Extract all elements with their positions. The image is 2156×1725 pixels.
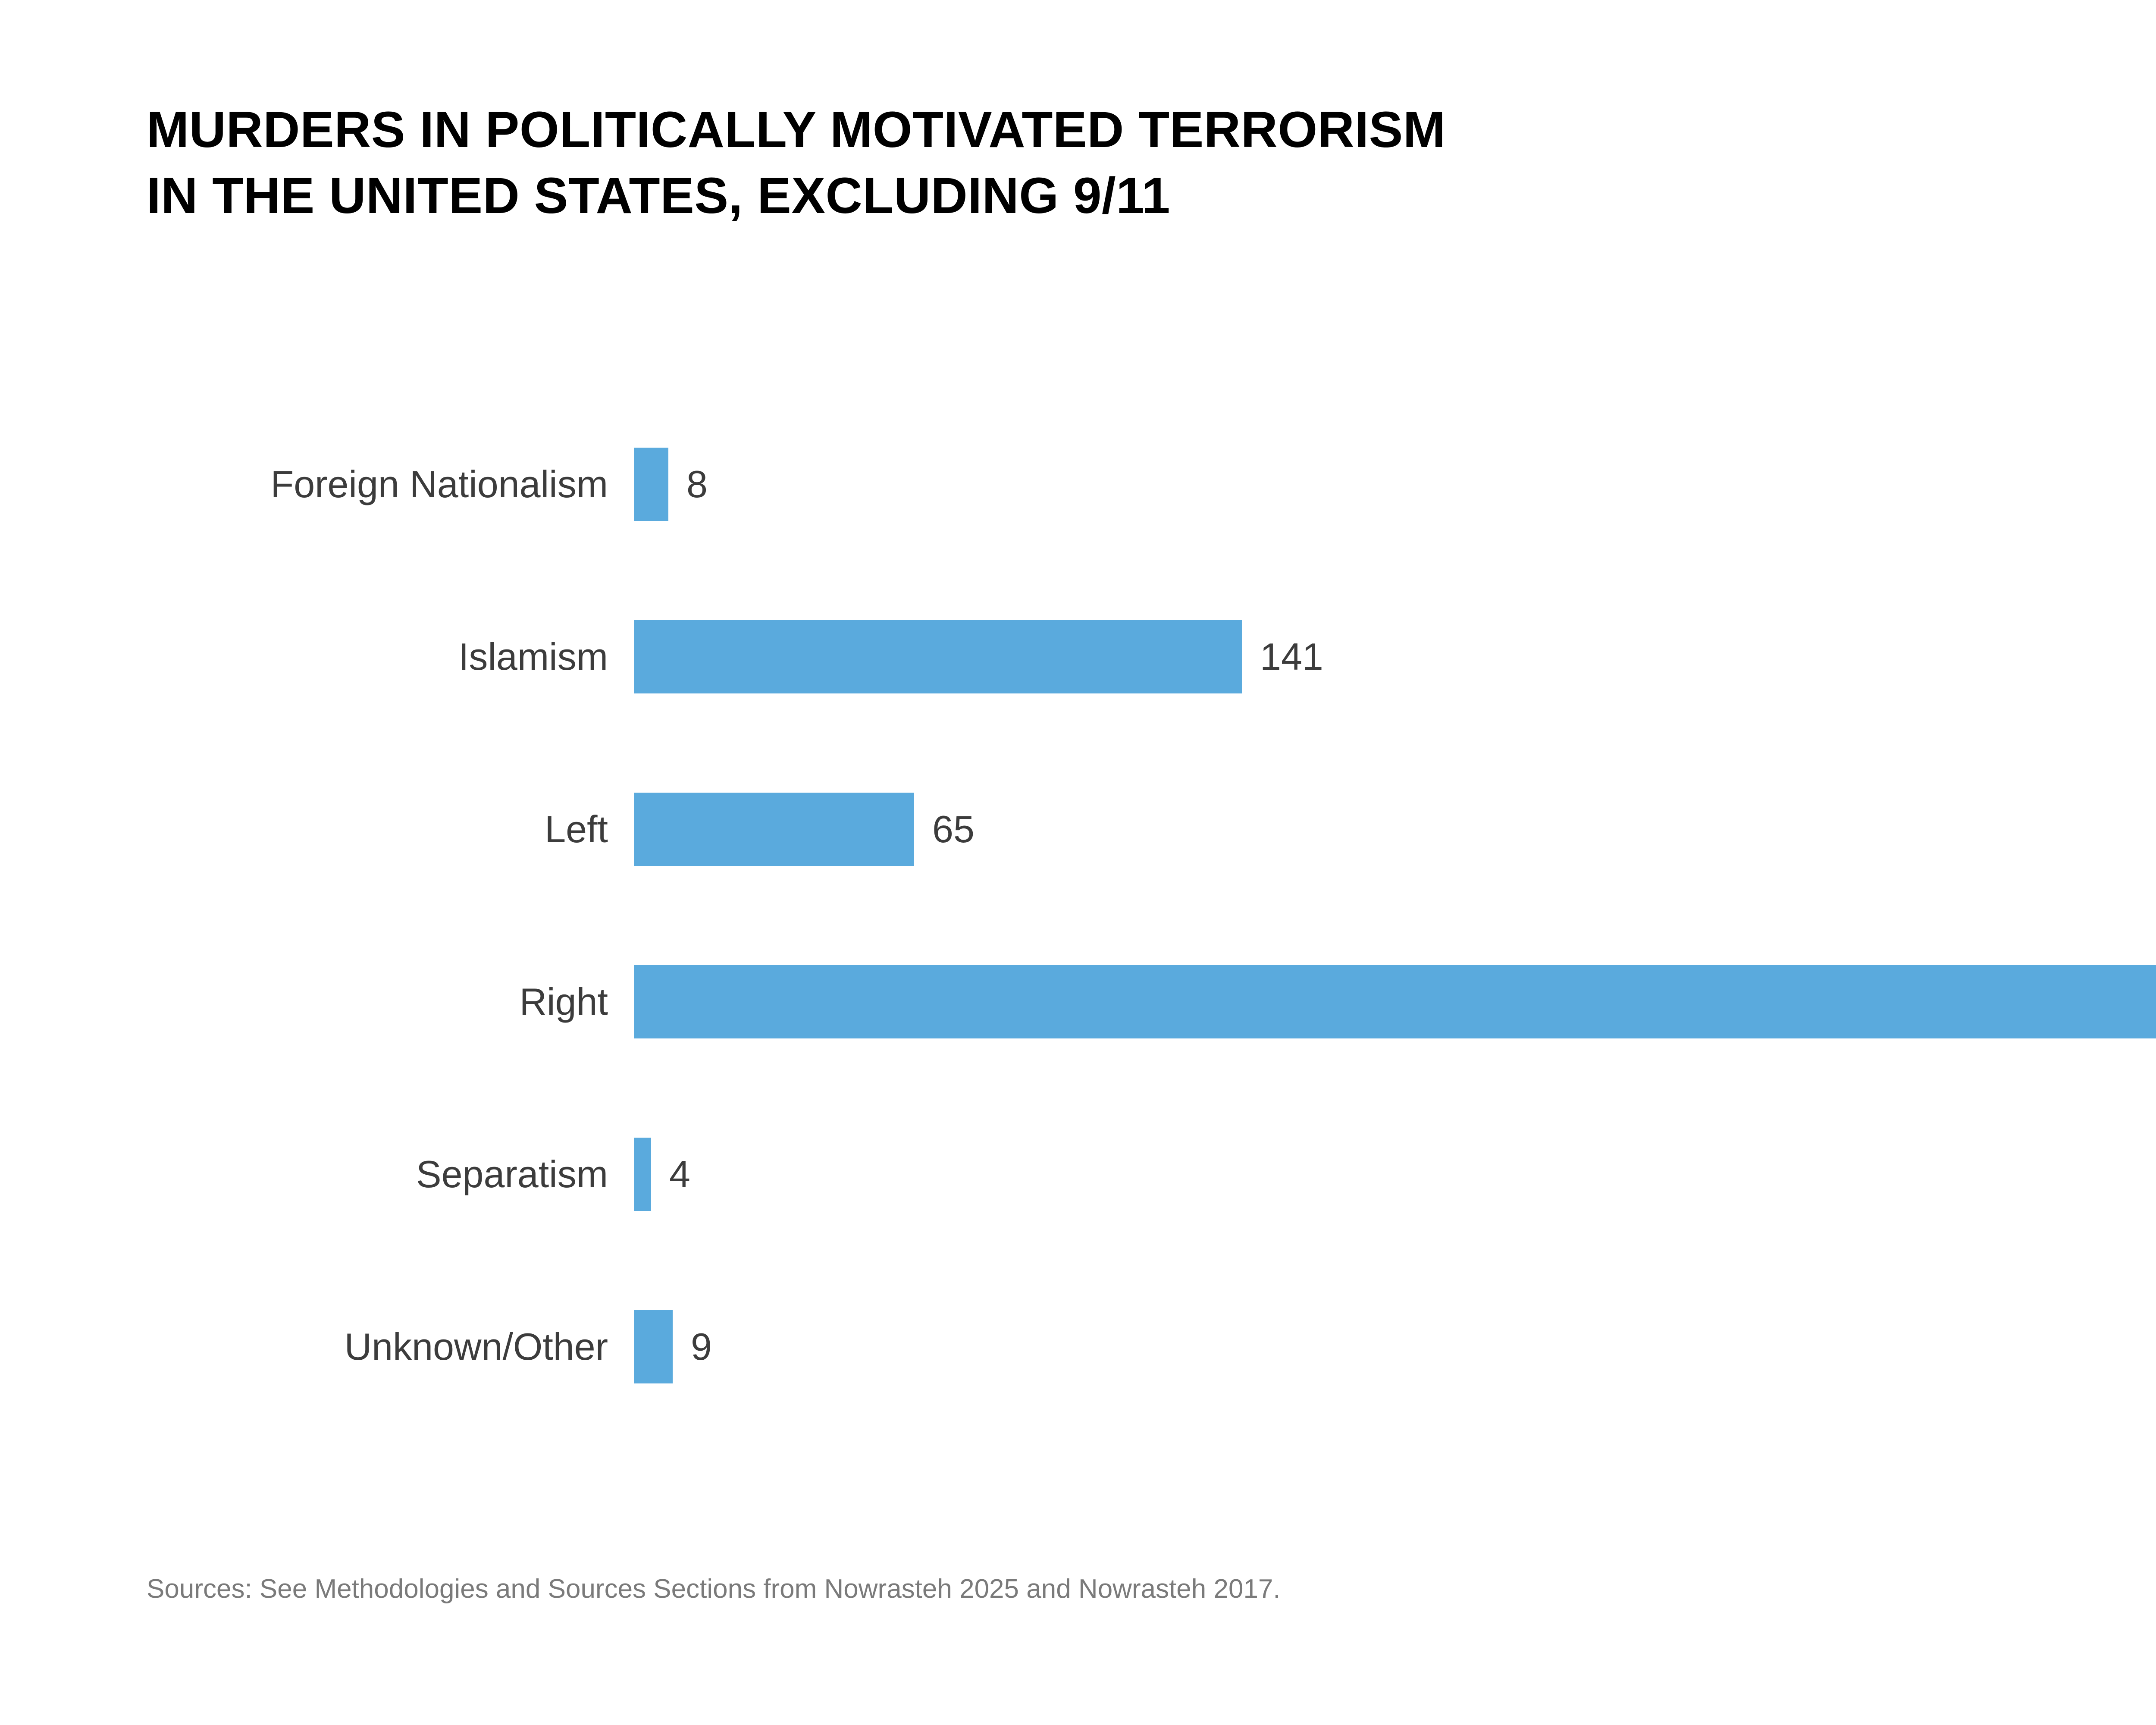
bar-category-label: Foreign Nationalism xyxy=(0,465,608,503)
bar-row: Separatism4 xyxy=(0,1138,2156,1211)
bar-value-label: 65 xyxy=(932,810,975,848)
bar[interactable] xyxy=(634,1310,673,1383)
bar-row: Left65 xyxy=(0,793,2156,866)
bar-row: Foreign Nationalism8 xyxy=(0,448,2156,521)
bar-row: Right391 xyxy=(0,965,2156,1038)
bar-category-label: Islamism xyxy=(0,638,608,676)
bar-row: Unknown/Other9 xyxy=(0,1310,2156,1383)
bar-value-label: 8 xyxy=(686,465,708,503)
bar-category-label: Left xyxy=(0,810,608,848)
bar[interactable] xyxy=(634,448,668,521)
bar[interactable] xyxy=(634,1138,651,1211)
source-note: Sources: See Methodologies and Sources S… xyxy=(147,1573,1281,1605)
bar-category-label: Right xyxy=(0,983,608,1021)
bar-category-label: Separatism xyxy=(0,1155,608,1193)
bar-value-label: 141 xyxy=(1260,638,1323,676)
bar-value-label: 4 xyxy=(669,1155,690,1193)
bar[interactable] xyxy=(634,620,1242,693)
bar[interactable] xyxy=(634,965,2156,1038)
bar-chart-plot-area: Foreign Nationalism8Islamism141Left65Rig… xyxy=(0,0,2156,1725)
bar[interactable] xyxy=(634,793,914,866)
bar-row: Islamism141 xyxy=(0,620,2156,693)
bar-category-label: Unknown/Other xyxy=(0,1328,608,1366)
bar-value-label: 9 xyxy=(691,1328,712,1366)
